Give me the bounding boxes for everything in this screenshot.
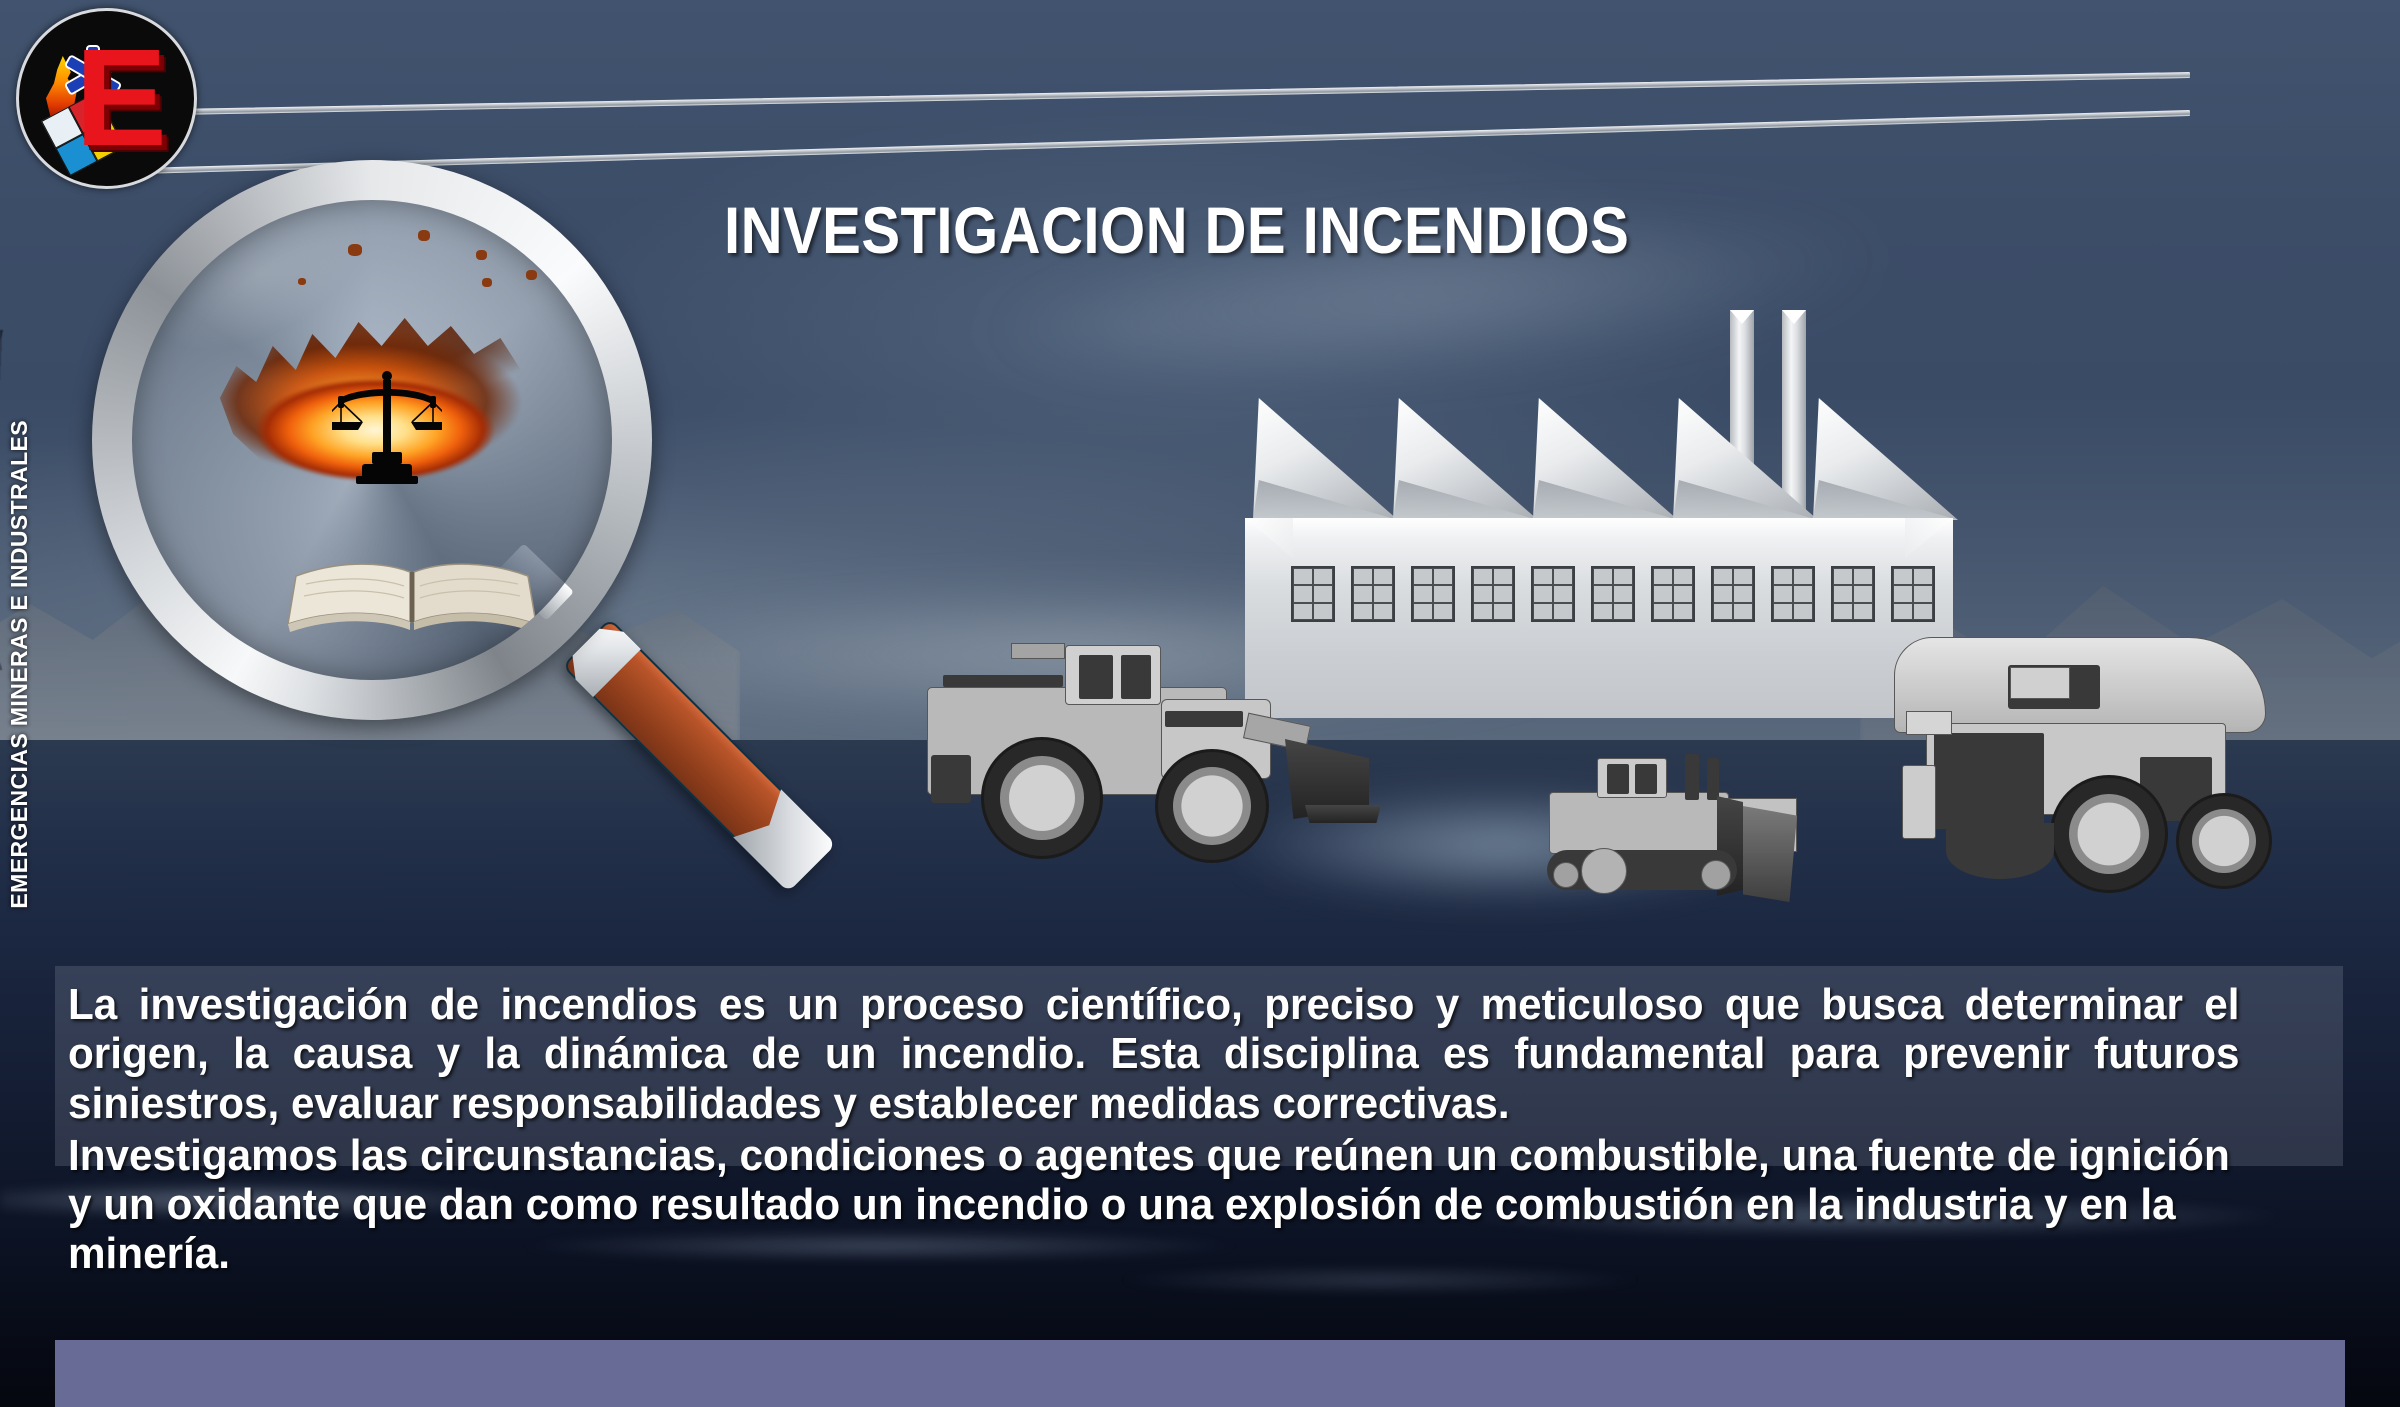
magnifying-glass-icon [92, 160, 652, 720]
open-book-icon [282, 560, 542, 636]
logo-letter: E [75, 29, 163, 167]
factory-window [1291, 566, 1335, 622]
factory-window [1711, 566, 1755, 622]
magnifier-lens [132, 200, 612, 680]
body-paragraph-2: Investigamos las circunstancias, condici… [68, 1131, 2240, 1279]
bottom-accent-bar [55, 1340, 2345, 1407]
factory-window [1651, 566, 1695, 622]
factory-window [1531, 566, 1575, 622]
factory-window [1891, 566, 1935, 622]
wheel-loader-icon [915, 615, 1385, 905]
roof-tooth-2 [1393, 398, 1538, 520]
roof-tooth-5 [1813, 398, 1958, 520]
factory-window [1831, 566, 1875, 622]
roof-tooth-3 [1533, 398, 1678, 520]
slide-canvas: E EMERGENCIAS MINERAS E INDUSTRALES INVE… [0, 0, 2400, 1407]
bulldozer-icon [1535, 740, 1865, 935]
factory-window [1411, 566, 1455, 622]
body-text: La investigación de incendios es un proc… [68, 980, 2240, 1282]
side-caption: EMERGENCIAS MINERAS E INDUSTRALES [6, 420, 33, 909]
factory-window [1771, 566, 1815, 622]
roof-tooth-1 [1253, 398, 1398, 520]
page-title: INVESTIGACION DE INCENDIOS [724, 192, 1629, 268]
factory-window [1591, 566, 1635, 622]
factory-window-row [1291, 566, 1935, 622]
haul-truck-icon [1890, 615, 2280, 925]
factory-window [1471, 566, 1515, 622]
factory-window [1351, 566, 1395, 622]
scales-of-justice-icon [332, 368, 442, 486]
body-paragraph-1: La investigación de incendios es un proc… [68, 980, 2240, 1128]
